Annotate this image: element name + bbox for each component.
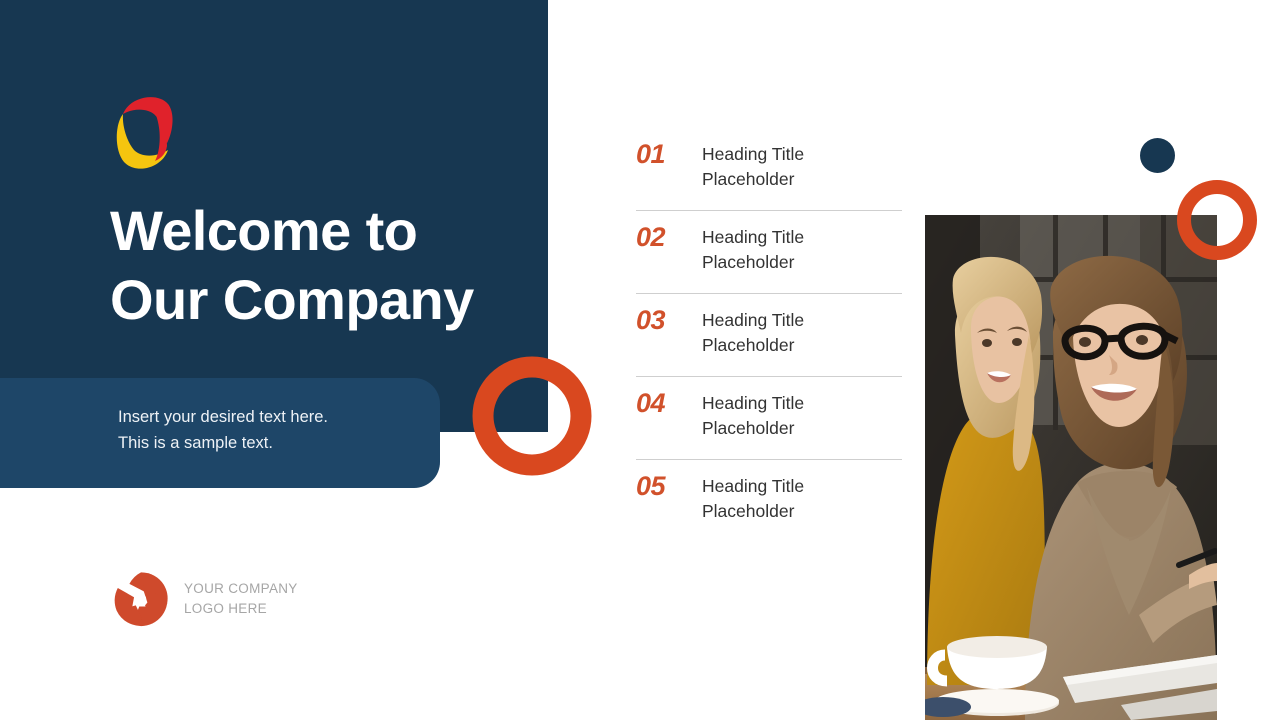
list-item-title-line-2: Placeholder [702,333,804,358]
footer-logo-line-1: YOUR COMPANY [184,579,298,599]
list-item-title: Heading Title Placeholder [702,472,804,524]
list-item-title: Heading Title Placeholder [702,223,804,275]
numbered-heading-list: 01 Heading Title Placeholder 02 Heading … [636,128,902,543]
list-item-title-line-1: Heading Title [702,308,804,333]
list-item-number: 03 [636,306,702,334]
list-item[interactable]: 01 Heading Title Placeholder [636,128,902,211]
footer-logo-line-2: LOGO HERE [184,599,298,619]
slide-title: Welcome to Our Company [110,196,540,335]
subtitle-banner: Insert your desired text here. This is a… [0,378,440,488]
footer-company-logo-text: YOUR COMPANY LOGO HERE [184,579,298,618]
subtitle-line-1: Insert your desired text here. [118,405,440,431]
camera-aperture-icon [112,570,170,628]
list-item-title-line-1: Heading Title [702,142,804,167]
list-item[interactable]: 04 Heading Title Placeholder [636,377,902,460]
list-item-title-line-2: Placeholder [702,499,804,524]
slide-canvas: Welcome to Our Company Insert your desir… [0,0,1280,720]
list-item[interactable]: 02 Heading Title Placeholder [636,211,902,294]
subtitle-line-2: This is a sample text. [118,431,440,457]
company-ring-logo-icon [110,88,176,178]
list-item-number: 01 [636,140,702,168]
team-photo [925,215,1217,720]
footer-company-logo: YOUR COMPANY LOGO HERE [112,570,298,628]
list-item-title: Heading Title Placeholder [702,140,804,192]
orange-ring-top-right-icon [1177,180,1257,260]
list-item-number: 04 [636,389,702,417]
list-item-title-line-2: Placeholder [702,416,804,441]
list-item-number: 02 [636,223,702,251]
list-item-title-line-2: Placeholder [702,167,804,192]
list-item-title: Heading Title Placeholder [702,306,804,358]
list-item-number: 05 [636,472,702,500]
list-item-title-line-1: Heading Title [702,474,804,499]
orange-ring-panel-edge-icon [472,356,592,476]
list-item[interactable]: 03 Heading Title Placeholder [636,294,902,377]
list-item-title-line-1: Heading Title [702,391,804,416]
slide-title-line-2: Our Company [110,265,540,334]
list-item[interactable]: 05 Heading Title Placeholder [636,460,902,543]
slide-title-line-1: Welcome to [110,196,540,265]
navy-circle-dot-icon [1140,138,1175,173]
list-item-title-line-1: Heading Title [702,225,804,250]
list-item-title-line-2: Placeholder [702,250,804,275]
list-item-title: Heading Title Placeholder [702,389,804,441]
